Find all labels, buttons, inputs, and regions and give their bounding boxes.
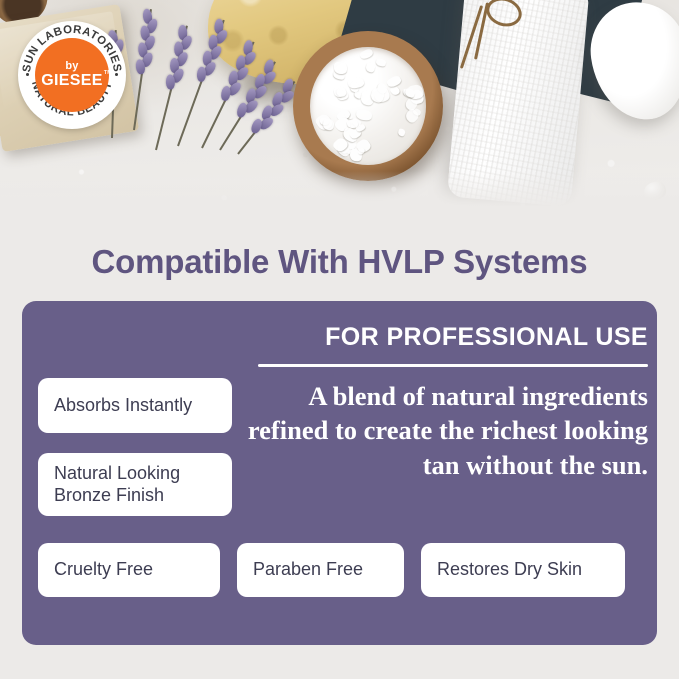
features-panel: FOR PROFESSIONAL USE A blend of natural …: [22, 301, 657, 645]
feature-pill-natural-looking-bronze-finish[interactable]: Natural Looking Bronze Finish: [38, 453, 232, 516]
panel-divider: [258, 364, 648, 367]
badge-dot: [115, 73, 118, 76]
feature-pill-label: Cruelty Free: [54, 559, 153, 581]
badge-dot: [26, 73, 29, 76]
panel-description: A blend of natural ingredients refined t…: [238, 379, 648, 482]
page-title: Compatible With HVLP Systems: [0, 243, 679, 281]
feature-pill-paraben-free[interactable]: Paraben Free: [237, 543, 404, 597]
photo-fade: [0, 171, 679, 215]
badge-brand-name-text: GIESEE: [41, 72, 102, 89]
panel-title: FOR PROFESSIONAL USE: [258, 323, 648, 352]
badge-brand-name: GIESEE TM: [41, 73, 102, 89]
feature-pill-absorbs-instantly[interactable]: Absorbs Instantly: [38, 378, 232, 433]
feature-pill-label: Natural Looking Bronze Finish: [54, 463, 216, 507]
feature-pill-restores-dry-skin[interactable]: Restores Dry Skin: [421, 543, 625, 597]
badge-by-label: by: [65, 61, 78, 72]
feature-pill-cruelty-free[interactable]: Cruelty Free: [38, 543, 220, 597]
brand-badge: SUN LABORATORIES NATURAL BEAUTY by GIESE…: [18, 21, 126, 129]
feature-pill-label: Restores Dry Skin: [437, 559, 582, 581]
badge-core: by GIESEE TM: [35, 38, 109, 112]
product-infographic: SUN LABORATORIES NATURAL BEAUTY by GIESE…: [0, 0, 679, 679]
trademark-icon: TM: [104, 71, 112, 76]
feature-pill-label: Absorbs Instantly: [54, 395, 192, 417]
feature-pill-label: Paraben Free: [253, 559, 363, 581]
